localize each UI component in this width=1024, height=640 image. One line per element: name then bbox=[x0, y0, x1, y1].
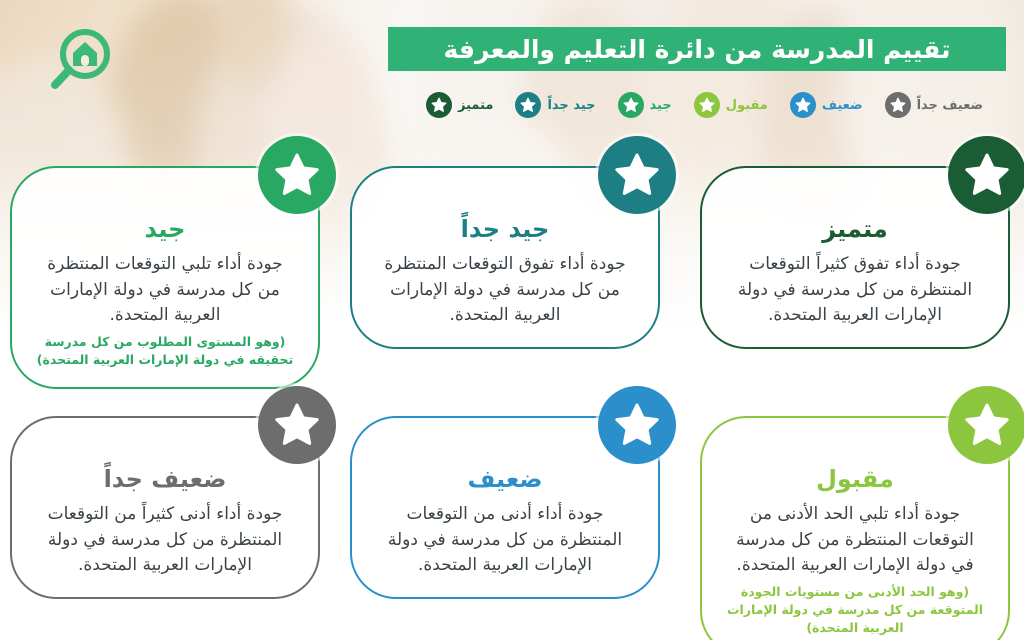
rating-card-weak: ضعيفجودة أداء أدنى من التوقعات المنتظرة … bbox=[350, 416, 660, 599]
card-title: ضعيف جداً bbox=[34, 464, 296, 494]
card-title: مقبول bbox=[724, 464, 986, 494]
card-note: (وهو الحد الأدنى من مستويات الجودة المتو… bbox=[724, 583, 986, 637]
legend-item-label: ضعيف جداً bbox=[917, 98, 984, 113]
legend-item-label: متميز bbox=[458, 98, 493, 113]
rating-card-very-weak: ضعيف جداًجودة أداء أدنى كثيراً من التوقع… bbox=[10, 416, 320, 599]
card-description: جودة أداء تفوق التوقعات المنتظرة من كل م… bbox=[374, 252, 636, 329]
card-note: (وهو المستوى المطلوب من كل مدرسة تحقيقه … bbox=[34, 333, 296, 369]
card-body-container: جيدجودة أداء تلبي التوقعات المنتظرة من ك… bbox=[10, 166, 320, 389]
star-icon bbox=[426, 92, 452, 118]
rating-card-acceptable: مقبولجودة أداء تلبي الحد الأدنى من التوق… bbox=[700, 416, 1010, 640]
legend-item-1: جيد جداً bbox=[515, 92, 595, 118]
legend-item-label: ضعيف bbox=[822, 98, 863, 113]
star-icon bbox=[515, 92, 541, 118]
magnifier-house-logo bbox=[42, 24, 116, 98]
card-description: جودة أداء تفوق كثيراً التوقعات المنتظرة … bbox=[724, 252, 986, 329]
star-icon bbox=[948, 136, 1024, 214]
card-body-container: ضعيف جداًجودة أداء أدنى كثيراً من التوقع… bbox=[10, 416, 320, 599]
star-icon bbox=[598, 136, 676, 214]
rating-card-very-good: جيد جداًجودة أداء تفوق التوقعات المنتظرة… bbox=[350, 166, 660, 349]
star-icon bbox=[694, 92, 720, 118]
star-icon bbox=[885, 92, 911, 118]
star-icon bbox=[598, 386, 676, 464]
card-description: جودة أداء أدنى كثيراً من التوقعات المنتظ… bbox=[34, 502, 296, 579]
legend-item-0: متميز bbox=[426, 92, 493, 118]
card-title: جيد جداً bbox=[374, 214, 636, 244]
card-title: متميز bbox=[724, 214, 986, 244]
rating-card-outstanding: متميزجودة أداء تفوق كثيراً التوقعات المن… bbox=[700, 166, 1010, 349]
legend-item-label: جيد جداً bbox=[547, 98, 595, 113]
legend-item-5: ضعيف جداً bbox=[885, 92, 984, 118]
legend-item-2: جيد bbox=[618, 92, 672, 118]
star-icon bbox=[790, 92, 816, 118]
card-title: ضعيف bbox=[374, 464, 636, 494]
card-description: جودة أداء تلبي التوقعات المنتظرة من كل م… bbox=[34, 252, 296, 329]
legend-item-3: مقبول bbox=[694, 92, 768, 118]
legend-item-label: جيد bbox=[650, 98, 672, 113]
card-body-container: ضعيفجودة أداء أدنى من التوقعات المنتظرة … bbox=[350, 416, 660, 599]
card-body-container: مقبولجودة أداء تلبي الحد الأدنى من التوق… bbox=[700, 416, 1010, 640]
card-description: جودة أداء أدنى من التوقعات المنتظرة من ك… bbox=[374, 502, 636, 579]
card-body-container: متميزجودة أداء تفوق كثيراً التوقعات المن… bbox=[700, 166, 1010, 349]
page-title-banner: تقييم المدرسة من دائرة التعليم والمعرفة bbox=[388, 27, 1006, 71]
rating-legend: متميزجيد جداًجيدمقبولضعيفضعيف جداً bbox=[404, 90, 1008, 120]
rating-card-good: جيدجودة أداء تلبي التوقعات المنتظرة من ك… bbox=[10, 166, 320, 389]
star-icon bbox=[948, 386, 1024, 464]
star-icon bbox=[618, 92, 644, 118]
card-title: جيد bbox=[34, 214, 296, 244]
card-description: جودة أداء تلبي الحد الأدنى من التوقعات ا… bbox=[724, 502, 986, 579]
card-body-container: جيد جداًجودة أداء تفوق التوقعات المنتظرة… bbox=[350, 166, 660, 349]
star-icon bbox=[258, 136, 336, 214]
page-title: تقييم المدرسة من دائرة التعليم والمعرفة bbox=[443, 35, 950, 64]
star-icon bbox=[258, 386, 336, 464]
legend-item-4: ضعيف bbox=[790, 92, 863, 118]
legend-item-label: مقبول bbox=[726, 98, 768, 113]
